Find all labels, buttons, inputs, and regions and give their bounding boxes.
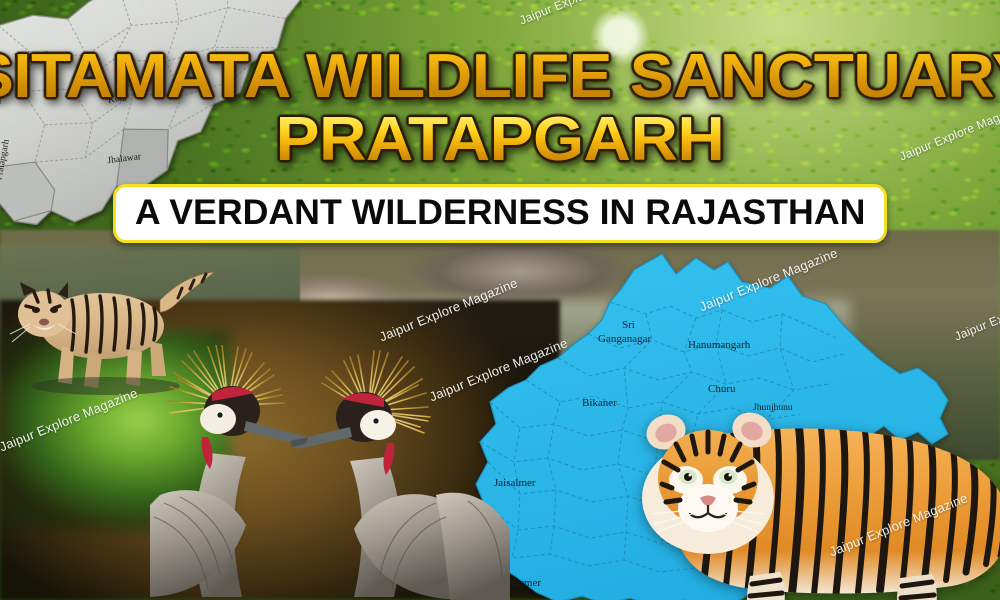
subtitle-text: A VERDANT WILDERNESS IN RAJASTHAN — [135, 195, 866, 230]
title-block: SITAMATA WILDLIFE SANCTUARY PRATAPGARH A… — [0, 0, 1000, 243]
poster-canvas: BhilwaraTonkSawaiMadhopurKarauliDholpurC… — [0, 0, 1000, 600]
map-label: Ganganagar — [598, 333, 651, 345]
page-title-line2: PRATAPGARH — [0, 107, 1000, 170]
bengal-tiger — [600, 380, 1000, 600]
subtitle-banner: A VERDANT WILDERNESS IN RAJASTHAN — [113, 184, 887, 243]
map-label: Barmer — [508, 577, 541, 589]
map-label: Hanumangarh — [688, 339, 751, 351]
page-title-line1: SITAMATA WILDLIFE SANCTUARY — [0, 0, 1000, 107]
map-label: Sri — [622, 319, 635, 331]
crowned-cranes — [150, 345, 510, 600]
